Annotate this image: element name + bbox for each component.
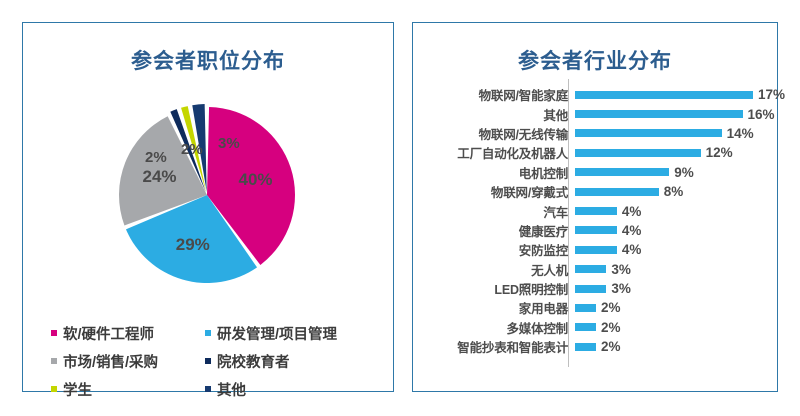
bar-track: 4% — [575, 240, 765, 259]
bar-track: 12% — [575, 143, 765, 162]
bar-chart-row[interactable]: 多媒体控制2% — [427, 318, 765, 337]
bar-fill — [575, 343, 596, 351]
bar-category-label: 智能抄表和智能表计 — [427, 337, 575, 356]
pie-legend-label: 学生 — [63, 379, 92, 400]
bar-chart-title: 参会者行业分布 — [413, 45, 777, 75]
bar-fill — [575, 188, 659, 196]
pie-legend-item[interactable]: 市场/销售/采购 — [51, 351, 205, 372]
bar-category-label: LED照明控制 — [427, 279, 575, 298]
pie-legend-item[interactable]: 学生 — [51, 379, 205, 400]
bar-chart-row[interactable]: 无人机3% — [427, 260, 765, 279]
pie-outside-label-0: 2% — [145, 149, 167, 166]
bar-value-label: 3% — [611, 262, 631, 277]
bar-chart-row[interactable]: LED照明控制3% — [427, 279, 765, 298]
bar-fill — [575, 129, 722, 137]
pie-legend-item[interactable]: 院校教育者 — [205, 351, 381, 372]
bar-value-label: 4% — [622, 242, 642, 257]
bar-chart-row[interactable]: 其他16% — [427, 104, 765, 123]
bar-track: 3% — [575, 260, 765, 279]
bar-chart-rows: 物联网/智能家庭17%其他16%物联网/无线传输14%工厂自动化及机器人12%电… — [427, 85, 765, 377]
legend-swatch-icon — [205, 330, 211, 336]
bar-track: 16% — [575, 104, 775, 123]
pie-legend-label: 院校教育者 — [217, 351, 290, 372]
bar-track: 2% — [575, 298, 765, 317]
pie-chart-panel: 参会者职位分布 40%29%24% 2% 2% 3% 软/硬件工程师研发管理/项… — [22, 22, 394, 392]
bar-value-label: 4% — [622, 204, 642, 219]
bar-category-label: 多媒体控制 — [427, 318, 575, 337]
pie-legend-label: 其他 — [217, 379, 246, 400]
bar-chart-row[interactable]: 工厂自动化及机器人12% — [427, 143, 765, 162]
bar-value-label: 2% — [601, 339, 621, 354]
bar-track: 17% — [575, 85, 785, 104]
bar-chart-row[interactable]: 智能抄表和智能表计2% — [427, 337, 765, 356]
legend-swatch-icon — [205, 386, 211, 392]
pie-legend-label: 市场/销售/采购 — [63, 351, 158, 372]
bar-fill — [575, 323, 596, 331]
bar-value-label: 12% — [706, 145, 733, 160]
bar-fill — [575, 285, 606, 293]
pie-slice-group — [119, 104, 295, 283]
pie-legend-item[interactable]: 其他 — [205, 379, 381, 400]
bar-fill — [575, 91, 753, 99]
bar-value-label: 2% — [601, 300, 621, 315]
pie-outside-label-1: 2% — [181, 141, 203, 158]
bar-fill — [575, 304, 596, 312]
bar-fill — [575, 168, 669, 176]
bar-chart-row[interactable]: 安防监控4% — [427, 240, 765, 259]
pie-svg: 40%29%24% — [107, 95, 307, 295]
bar-track: 3% — [575, 279, 765, 298]
bar-chart-row[interactable]: 物联网/智能家庭17% — [427, 85, 765, 104]
pie-outside-label-2: 3% — [218, 135, 240, 152]
legend-swatch-icon — [51, 358, 57, 364]
bar-track: 2% — [575, 318, 765, 337]
pie-legend-label: 软/硬件工程师 — [63, 323, 154, 344]
bar-fill — [575, 149, 701, 157]
bar-value-label: 3% — [611, 281, 631, 296]
bar-track: 2% — [575, 337, 765, 356]
bar-value-label: 16% — [748, 107, 775, 122]
bar-category-label: 其他 — [427, 105, 575, 124]
bar-track: 4% — [575, 201, 765, 220]
bar-category-label: 安防监控 — [427, 240, 575, 259]
bar-value-label: 14% — [727, 126, 754, 141]
bar-category-label: 汽车 — [427, 202, 575, 221]
bar-value-label: 4% — [622, 223, 642, 238]
bar-track: 4% — [575, 221, 765, 240]
bar-category-label: 工厂自动化及机器人 — [427, 143, 575, 162]
pie-slice-label: 29% — [176, 235, 210, 254]
bar-track: 9% — [575, 163, 765, 182]
legend-swatch-icon — [51, 386, 57, 392]
bar-chart-row[interactable]: 汽车4% — [427, 201, 765, 220]
bar-chart-row[interactable]: 电机控制9% — [427, 163, 765, 182]
bar-value-label: 2% — [601, 320, 621, 335]
bar-fill — [575, 246, 617, 254]
bar-track: 8% — [575, 182, 765, 201]
pie-chart-title: 参会者职位分布 — [23, 45, 393, 75]
bar-category-label: 物联网/穿戴式 — [427, 182, 575, 201]
pie-legend-label: 研发管理/项目管理 — [217, 323, 337, 344]
bar-value-label: 9% — [674, 165, 694, 180]
pie-legend: 软/硬件工程师研发管理/项目管理市场/销售/采购院校教育者学生其他 — [51, 319, 381, 403]
chart-page: 参会者职位分布 40%29%24% 2% 2% 3% 软/硬件工程师研发管理/项… — [0, 0, 800, 416]
pie-legend-item[interactable]: 软/硬件工程师 — [51, 323, 205, 344]
bar-fill — [575, 110, 743, 118]
legend-swatch-icon — [205, 358, 211, 364]
legend-swatch-icon — [51, 330, 57, 336]
pie-slice-label: 24% — [143, 167, 177, 186]
bar-category-label: 健康医疗 — [427, 221, 575, 240]
bar-track: 14% — [575, 124, 765, 143]
bar-category-label: 物联网/智能家庭 — [427, 85, 575, 104]
pie-legend-item[interactable]: 研发管理/项目管理 — [205, 323, 381, 344]
bar-fill — [575, 265, 606, 273]
bar-category-label: 物联网/无线传输 — [427, 124, 575, 143]
bar-chart-panel: 参会者行业分布 物联网/智能家庭17%其他16%物联网/无线传输14%工厂自动化… — [412, 22, 778, 392]
bar-value-label: 17% — [758, 87, 785, 102]
bar-chart-row[interactable]: 物联网/穿戴式8% — [427, 182, 765, 201]
bar-chart-row[interactable]: 家用电器2% — [427, 298, 765, 317]
bar-value-label: 8% — [664, 184, 684, 199]
bar-category-label: 无人机 — [427, 260, 575, 279]
bar-fill — [575, 226, 617, 234]
pie-slice-label: 40% — [239, 170, 273, 189]
bar-chart-row[interactable]: 健康医疗4% — [427, 221, 765, 240]
bar-category-label: 家用电器 — [427, 298, 575, 317]
bar-fill — [575, 207, 617, 215]
bar-category-label: 电机控制 — [427, 163, 575, 182]
bar-chart-row[interactable]: 物联网/无线传输14% — [427, 124, 765, 143]
pie-chart-graphic: 40%29%24% 2% 2% 3% — [107, 95, 307, 295]
